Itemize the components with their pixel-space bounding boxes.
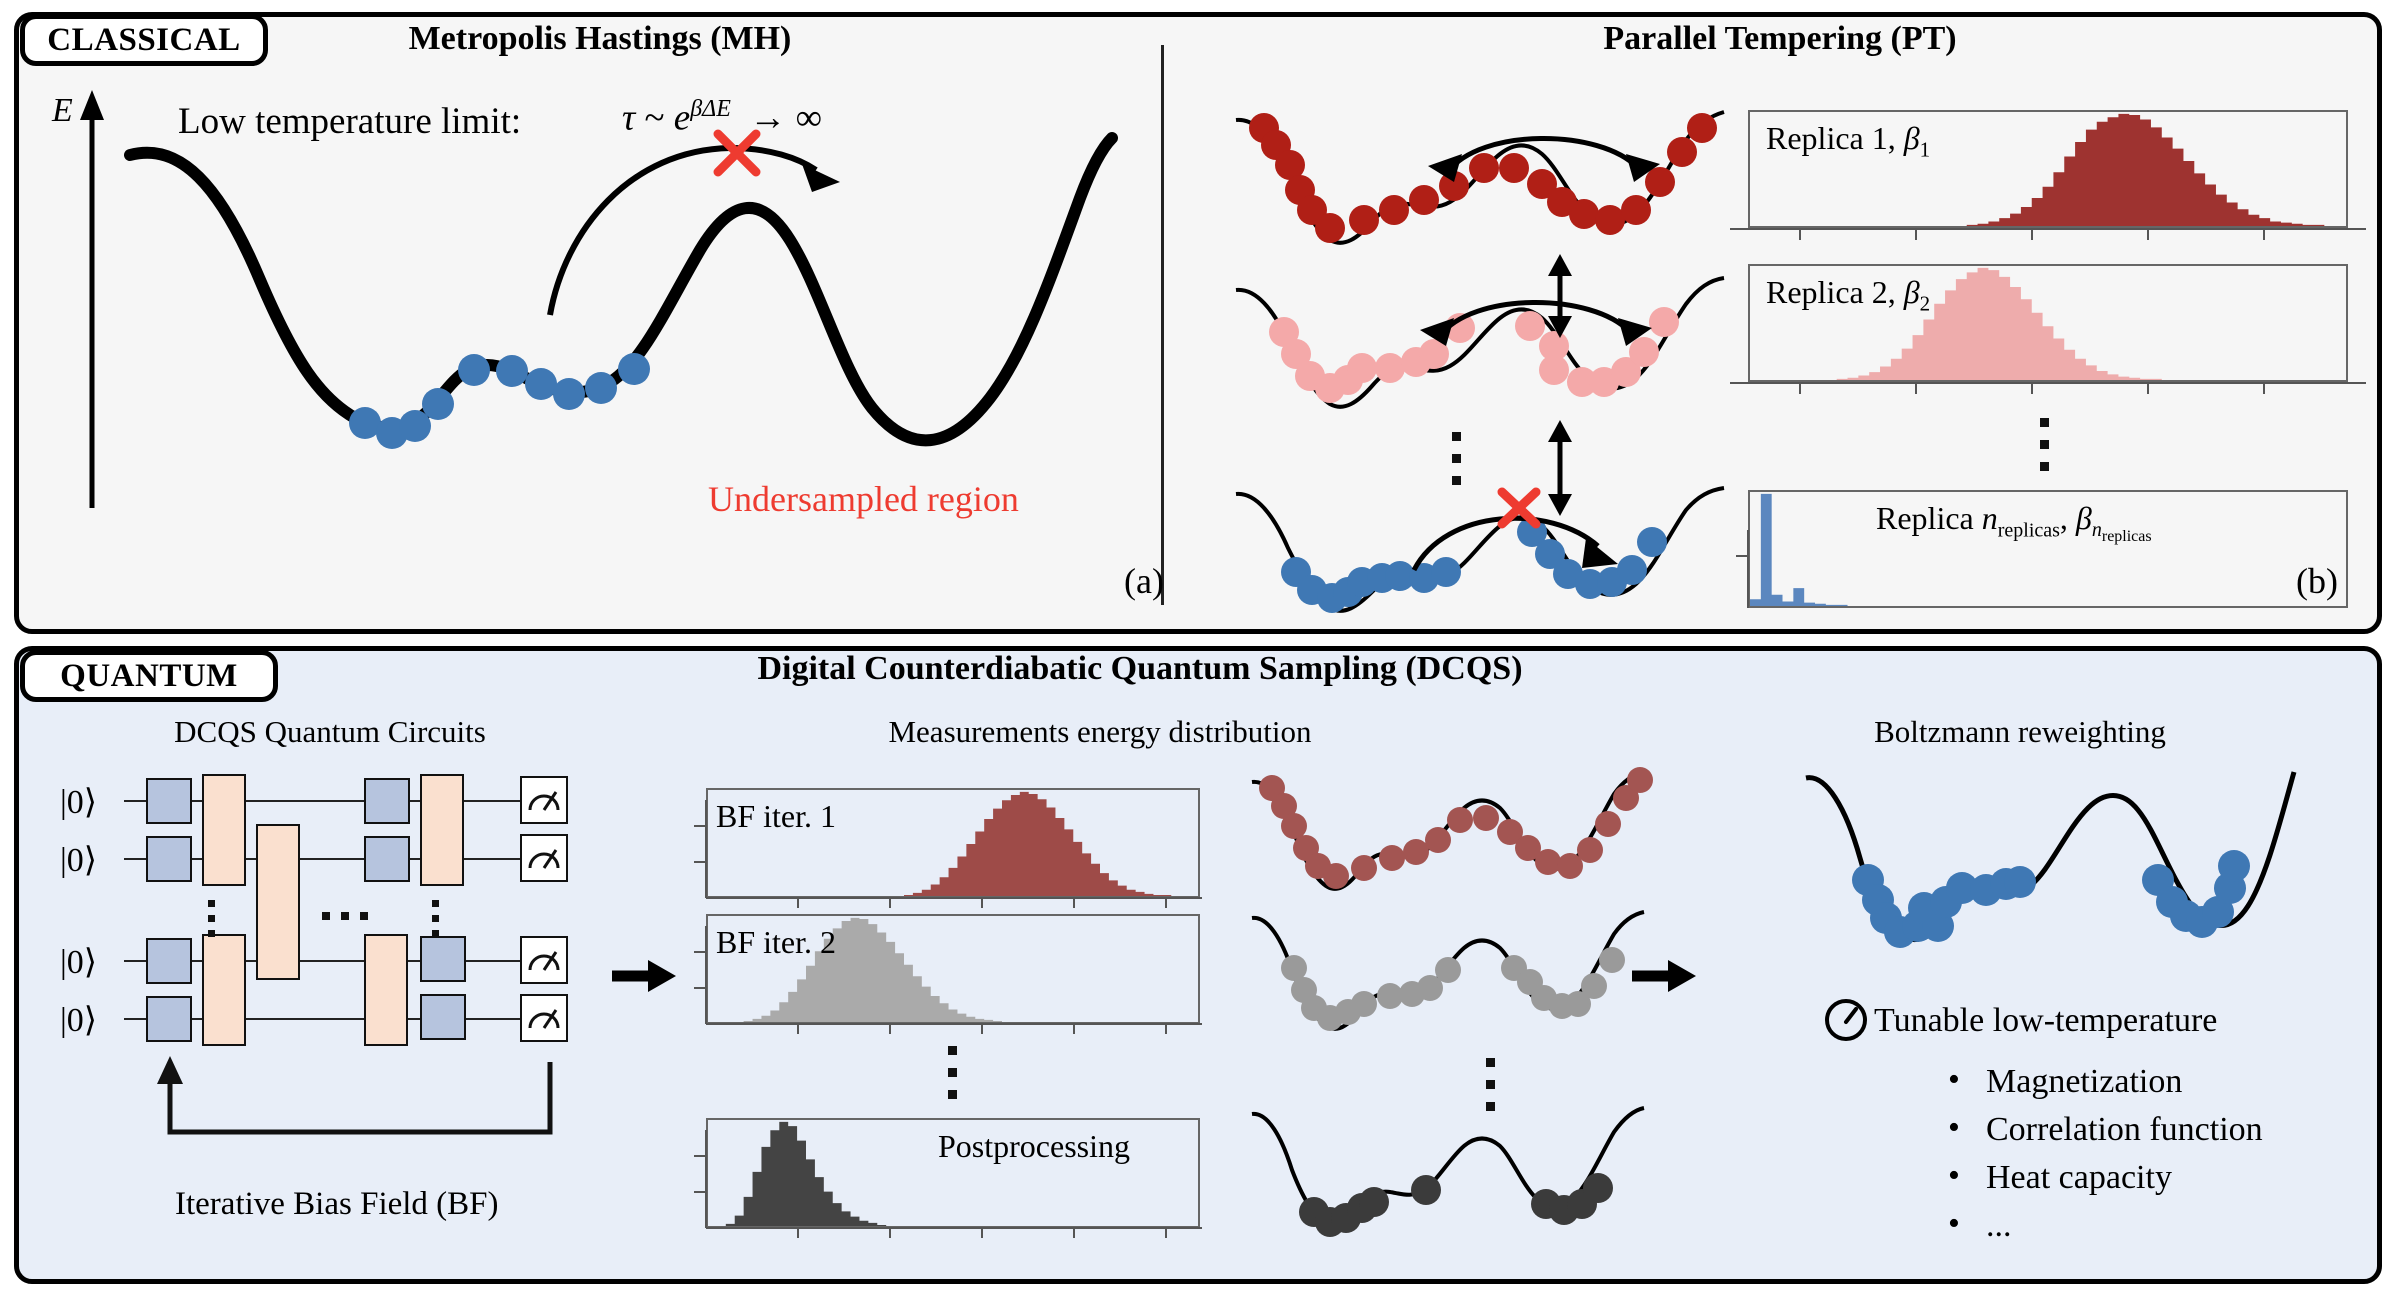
gate-blue-q1-c4: [364, 836, 410, 882]
dcqs-landscape-ellipsis: [1486, 1058, 1495, 1111]
dcqs-landscape-postprocessed: [1248, 1108, 1648, 1238]
gate-peach-q2q3-c4: [364, 934, 408, 1046]
gate-peach-q0q1-c5: [420, 774, 464, 886]
qubit-label-0: |0⟩: [60, 782, 97, 822]
title-metropolis-hastings: Metropolis Hastings (MH): [300, 20, 900, 58]
histogram-replica-ellipsis: [2040, 418, 2049, 471]
gate-blue-q3-c5: [420, 994, 466, 1040]
gate-blue-q2-c5: [420, 936, 466, 982]
qubit-label-2: |0⟩: [60, 942, 97, 982]
histogram-postprocessing-label: Postprocessing: [938, 1128, 1130, 1165]
observables-list: Magnetization Correlation function Heat …: [1940, 1058, 2263, 1250]
histogram-bf-iter-2-label: BF iter. 2: [716, 924, 836, 961]
histogram-replica-n-label: Replica nreplicas, βnreplicas: [1876, 500, 2152, 546]
pt-landscape-ellipsis: [1452, 432, 1461, 485]
panel-divider: [1161, 45, 1164, 605]
circuit-vertical-ellipsis-left: [208, 900, 215, 937]
pt-exchange-arrow-lower: [1540, 420, 1580, 516]
histogram-dcqs-ellipsis: [948, 1046, 957, 1099]
arrow-landscapes-to-boltzmann: [1630, 958, 1700, 994]
panel-letter-a: (a): [1124, 560, 1164, 602]
gate-peach-q0q1-c2: [202, 774, 246, 886]
histogram-replica-1-label: Replica 1, β1: [1766, 120, 1930, 162]
arrow-circuit-to-histograms: [610, 958, 680, 994]
dcqs-landscape-iter-2: [1248, 912, 1648, 1042]
histogram-bf-iter-1-label: BF iter. 1: [716, 798, 836, 835]
figure-root: CLASSICAL Metropolis Hastings (MH) Paral…: [0, 0, 2396, 1296]
measure-icon-q3: [520, 994, 568, 1042]
column-title-measurements: Measurements energy distribution: [700, 714, 1500, 750]
list-item: Correlation function: [1940, 1106, 2263, 1154]
pt-swap-arrow-2: [1412, 288, 1662, 358]
column-title-boltzmann: Boltzmann reweighting: [1700, 714, 2340, 750]
histogram-replica-2-label: Replica 2, β2: [1766, 274, 1930, 316]
measure-icon-q2: [520, 936, 568, 984]
list-item: Heat capacity: [1940, 1154, 2263, 1202]
tag-quantum: QUANTUM: [20, 650, 278, 702]
feedback-loop-arrow: [152, 1056, 572, 1146]
axis-label-energy: E: [52, 92, 73, 130]
circuit-horizontal-ellipsis: [322, 912, 368, 920]
list-item: Magnetization: [1940, 1058, 2263, 1106]
measure-icon-q0: [520, 776, 568, 824]
pt-blocked-swap-arrow: [1400, 488, 1660, 578]
boltzmann-reweighted-landscape: [1800, 766, 2300, 956]
iterative-bias-field-label: Iterative Bias Field (BF): [175, 1186, 499, 1223]
pt-exchange-arrow-upper: [1540, 254, 1580, 338]
dcqs-landscape-iter-1: [1248, 772, 1648, 902]
energy-axis-arrow: [78, 88, 118, 508]
qubit-label-3: |0⟩: [60, 1000, 97, 1040]
gate-blue-q0-c1: [146, 778, 192, 824]
histogram-replica-2-axis: [1730, 382, 2370, 398]
dcqs-quantum-circuit: |0⟩ |0⟩ |0⟩ |0⟩: [34, 760, 594, 1190]
measure-icon-q1: [520, 834, 568, 882]
gate-peach-q2q3-c2: [202, 934, 246, 1046]
tag-classical: CLASSICAL: [20, 14, 268, 66]
qubit-label-1: |0⟩: [60, 840, 97, 880]
gauge-icon: [1822, 996, 1870, 1044]
title-parallel-tempering: Parallel Tempering (PT): [1430, 20, 2130, 58]
gate-blue-q2-c1: [146, 938, 192, 984]
gate-peach-span-c3: [256, 824, 300, 980]
histogram-replica-1-axis: [1730, 228, 2370, 244]
gate-blue-q1-c1: [146, 836, 192, 882]
tunable-low-temperature-label: Tunable low-temperature: [1874, 1002, 2217, 1040]
undersampled-region-label: Undersampled region: [708, 478, 1019, 520]
pt-swap-arrow-1: [1420, 124, 1670, 194]
blocked-transition-arrow: [540, 130, 870, 320]
gate-blue-q0-c4: [364, 778, 410, 824]
histogram-replica-n-yaxis: [1730, 530, 1752, 610]
gate-blue-q3-c1: [146, 996, 192, 1042]
column-title-circuits: DCQS Quantum Circuits: [30, 714, 630, 750]
circuit-vertical-ellipsis-right: [432, 900, 439, 937]
title-dcqs: Digital Counterdiabatic Quantum Sampling…: [560, 650, 1720, 688]
list-item: ...: [1940, 1202, 2263, 1250]
